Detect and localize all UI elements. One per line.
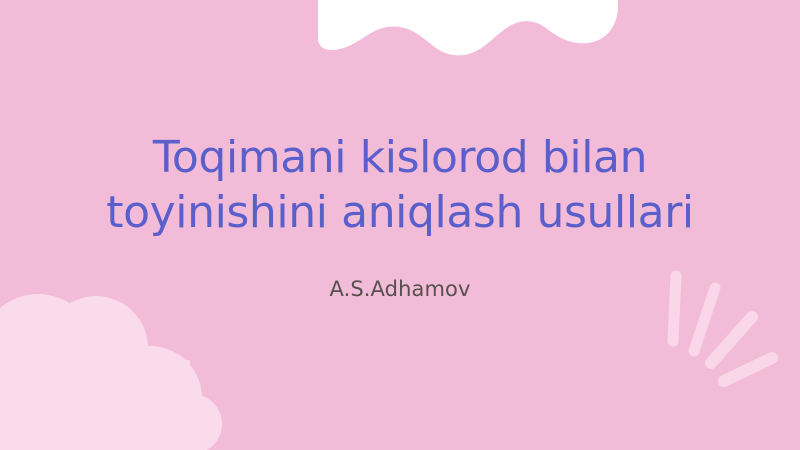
slide-title: Toqimani kislorod bilan toyinishini aniq…	[40, 130, 760, 241]
slide-text-layer: Toqimani kislorod bilan toyinishini aniq…	[0, 0, 800, 450]
slide-subtitle: A.S.Adhamov	[40, 277, 760, 301]
presentation-slide: Toqimani kislorod bilan toyinishini aniq…	[0, 0, 800, 450]
